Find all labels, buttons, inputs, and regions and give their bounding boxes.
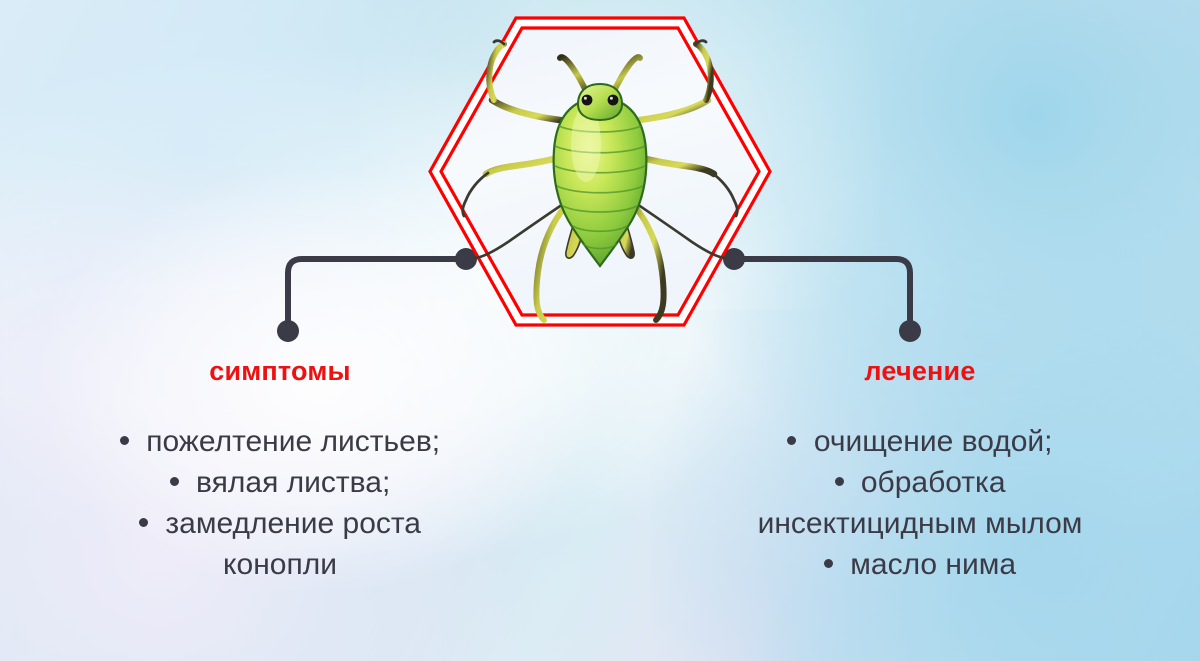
list-item-text: конопли: [223, 548, 337, 581]
aphid-eye-right: [608, 95, 619, 106]
symptoms-list: пожелтение листьев; вялая листва; замедл…: [20, 421, 540, 585]
list-item-text: масло нима: [850, 548, 1016, 581]
list-item: замедление роста: [20, 503, 540, 544]
list-item-text: обработка: [861, 466, 1006, 499]
hexagon-badge-svg: [426, 14, 774, 329]
list-item: обработка: [660, 462, 1180, 503]
bullet-dot-icon: [787, 436, 796, 445]
treatment-list: очищение водой; обработка инсектицидным …: [660, 421, 1180, 585]
bullet-dot-icon: [835, 477, 844, 486]
aphid-eye-left: [582, 95, 593, 106]
list-item-text: пожелтение листьев;: [146, 425, 440, 458]
symptoms-heading: симптомы: [20, 358, 540, 385]
list-item-text: очищение водой;: [814, 425, 1053, 458]
list-item: масло нима: [660, 544, 1180, 585]
bullet-dot-icon: [170, 477, 179, 486]
list-item: вялая листва;: [20, 462, 540, 503]
list-item-text: инсектицидным мылом: [758, 507, 1083, 540]
list-item-continuation: инсектицидным мылом: [660, 503, 1180, 544]
list-item: очищение водой;: [660, 421, 1180, 462]
treatment-heading: лечение: [660, 358, 1180, 385]
connector-dot-right-end: [899, 320, 921, 342]
infographic-poster: симптомы пожелтение листьев; вялая листв…: [0, 0, 1200, 661]
hexagon-badge: [426, 14, 774, 329]
list-item-text: вялая листва;: [196, 466, 390, 499]
column-treatment: лечение очищение водой; обработка инсект…: [660, 358, 1180, 585]
connector-dot-left-end: [277, 320, 299, 342]
bullet-dot-icon: [139, 518, 148, 527]
list-item-text: замедление роста: [165, 507, 421, 540]
bullet-dot-icon: [824, 559, 833, 568]
column-symptoms: симптомы пожелтение листьев; вялая листв…: [20, 358, 540, 585]
bullet-dot-icon: [120, 436, 129, 445]
list-item-continuation: конопли: [20, 544, 540, 585]
list-item: пожелтение листьев;: [20, 421, 540, 462]
